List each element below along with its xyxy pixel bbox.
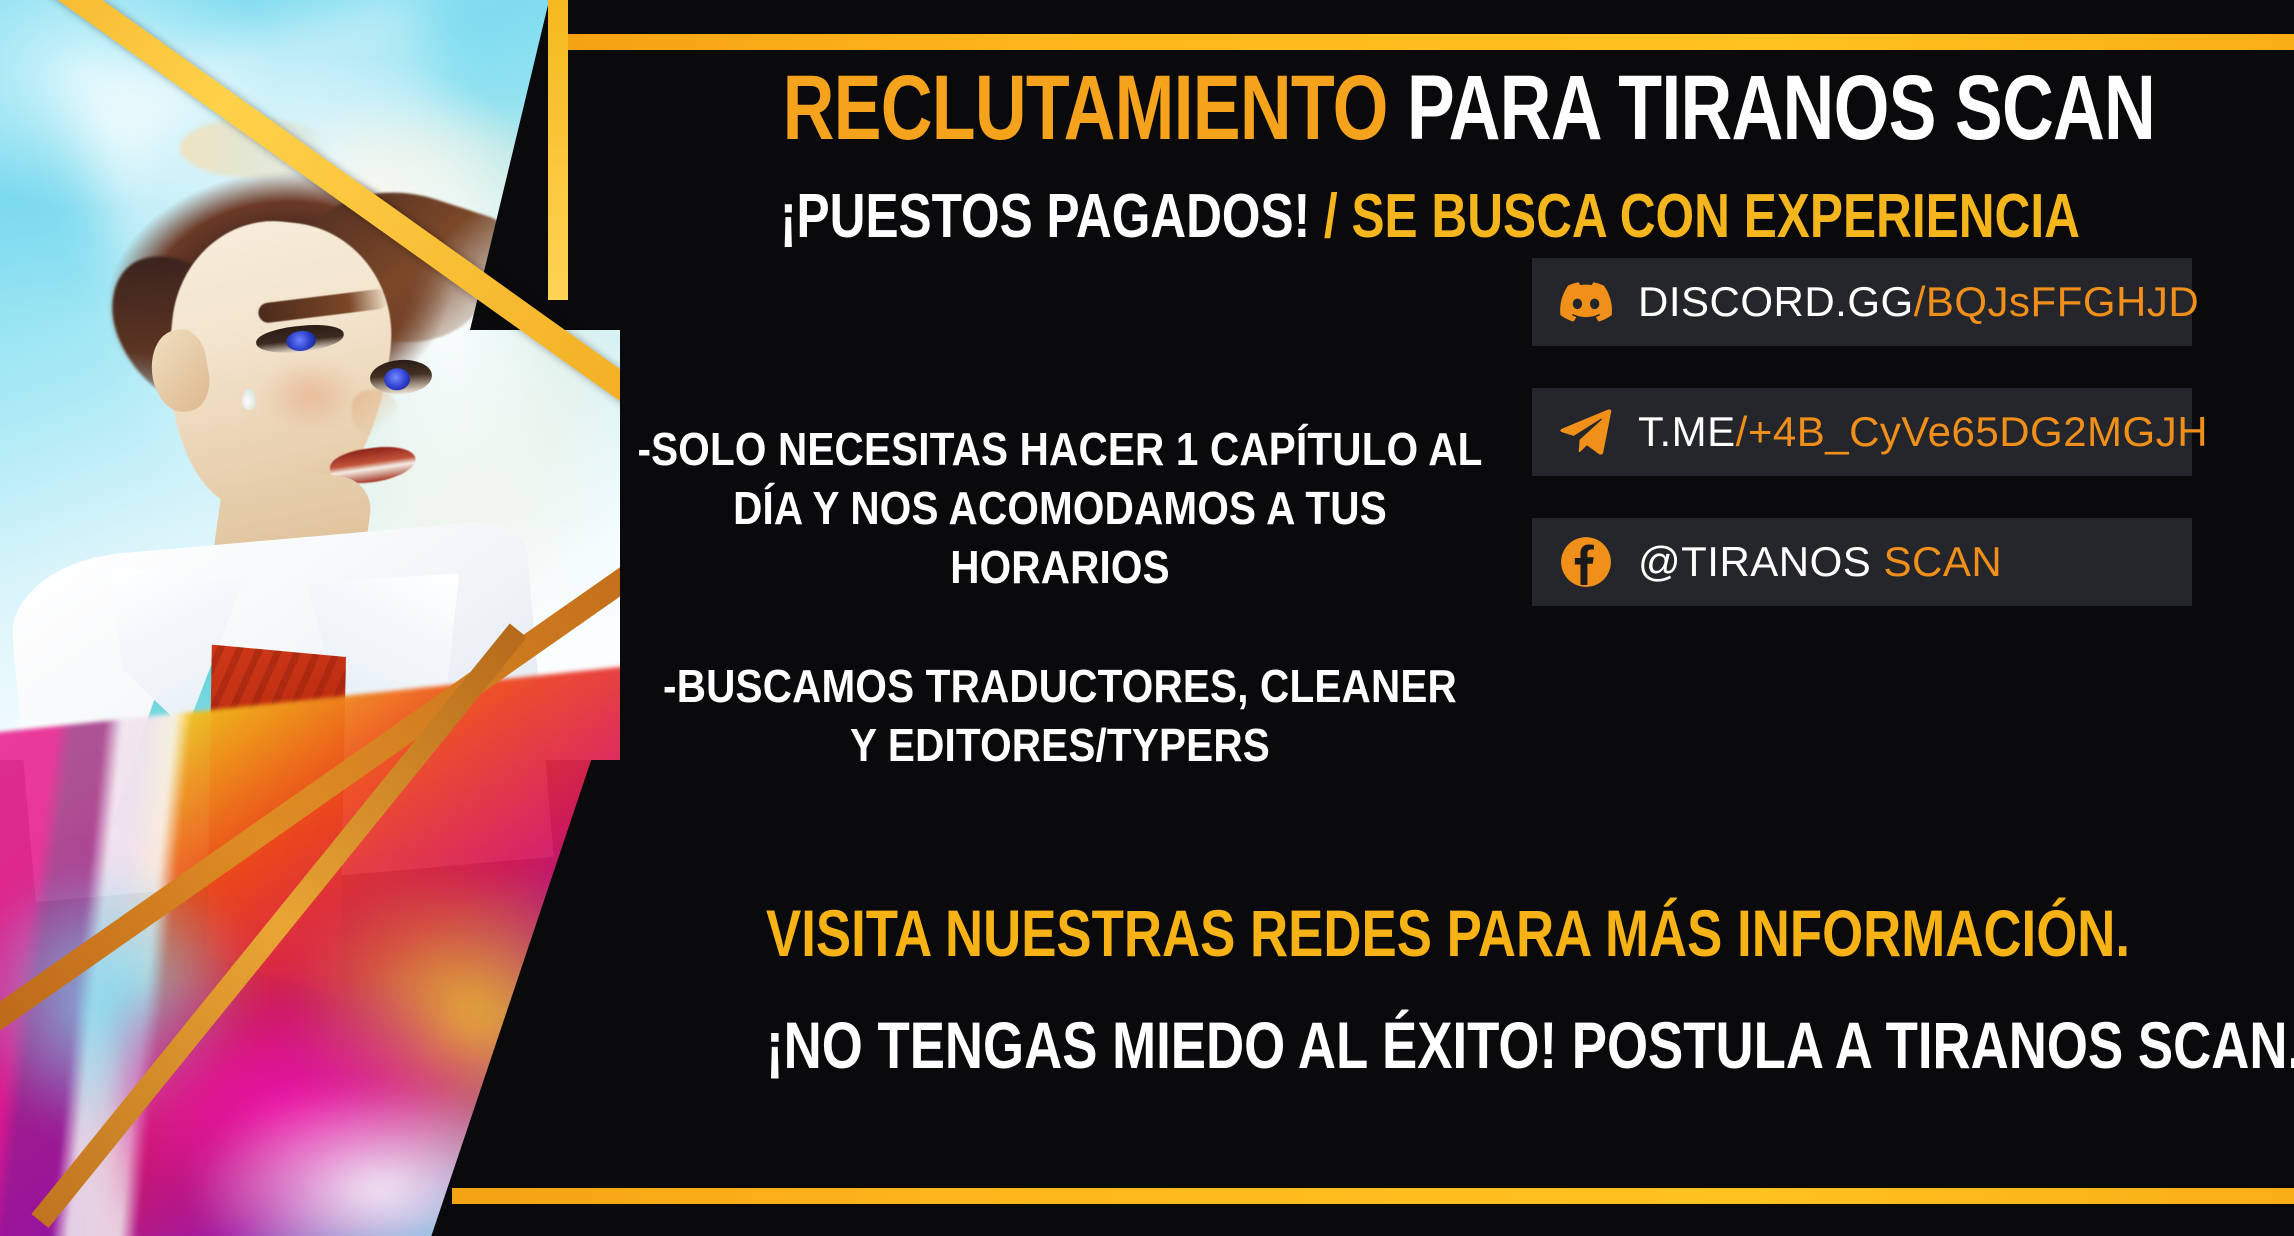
telegram-domain: T.ME bbox=[1638, 408, 1736, 455]
character-cheek-blush bbox=[262, 360, 358, 430]
discord-icon bbox=[1560, 276, 1612, 328]
discord-domain: DISCORD.GG bbox=[1638, 278, 1914, 325]
banner-content: RECLUTAMIENTO PARA TIRANOS SCAN ¡PUESTOS… bbox=[600, 0, 2294, 1236]
headline-rest: PARA TIRANOS SCAN bbox=[1407, 57, 2155, 159]
telegram-invite-code: /+4B_CyVe65DG2MGJH bbox=[1736, 408, 2208, 455]
facebook-icon bbox=[1560, 536, 1612, 588]
headline-highlight: RECLUTAMIENTO bbox=[783, 57, 1388, 159]
facebook-handle: @TIRANOS bbox=[1638, 538, 1871, 585]
requirements-list: -SOLO NECESITAS HACER 1 CAPÍTULO AL DÍA … bbox=[560, 420, 1560, 774]
gold-vertical-edge bbox=[548, 0, 568, 300]
telegram-icon bbox=[1560, 406, 1612, 458]
character-iris-right bbox=[383, 367, 410, 391]
facebook-link-card[interactable]: @TIRANOS SCAN bbox=[1532, 518, 2192, 606]
subheadline: ¡PUESTOS PAGADOS! / SE BUSCA CON EXPERIE… bbox=[766, 186, 2094, 248]
discord-link-card[interactable]: DISCORD.GG/BQJsFFGHJD bbox=[1532, 258, 2192, 346]
telegram-link-text: T.ME/+4B_CyVe65DG2MGJH bbox=[1638, 408, 2208, 456]
character-artwork-panel bbox=[0, 0, 620, 1236]
character-iris-left bbox=[285, 329, 317, 352]
subheadline-experience: / SE BUSCA CON EXPERIENCIA bbox=[1324, 182, 2080, 251]
cta-line-visit: VISITA NUESTRAS REDES PARA MÁS INFORMACI… bbox=[766, 900, 2094, 966]
discord-link-text: DISCORD.GG/BQJsFFGHJD bbox=[1638, 278, 2199, 326]
telegram-link-card[interactable]: T.ME/+4B_CyVe65DG2MGJH bbox=[1532, 388, 2192, 476]
requirement-roles: -BUSCAMOS TRADUCTORES, CLEANER Y EDITORE… bbox=[620, 657, 1500, 775]
character-sweat-drop bbox=[242, 388, 256, 410]
headline: RECLUTAMIENTO PARA TIRANOS SCAN bbox=[783, 62, 2078, 154]
requirement-schedule: -SOLO NECESITAS HACER 1 CAPÍTULO AL DÍA … bbox=[620, 420, 1500, 597]
recruitment-banner: RECLUTAMIENTO PARA TIRANOS SCAN ¡PUESTOS… bbox=[0, 0, 2294, 1236]
facebook-handle-accent: SCAN bbox=[1884, 538, 2003, 585]
facebook-link-text: @TIRANOS SCAN bbox=[1638, 538, 2002, 586]
discord-invite-code: /BQJsFFGHJD bbox=[1914, 278, 2200, 325]
call-to-action: VISITA NUESTRAS REDES PARA MÁS INFORMACI… bbox=[600, 900, 2260, 1078]
cta-line-apply: ¡NO TENGAS MIEDO AL ÉXITO! POSTULA A TIR… bbox=[766, 1012, 2094, 1078]
subheadline-paid: ¡PUESTOS PAGADOS! bbox=[780, 182, 1310, 251]
social-links: DISCORD.GG/BQJsFFGHJD T.ME/+4B_CyVe65DG2… bbox=[1532, 258, 2192, 648]
